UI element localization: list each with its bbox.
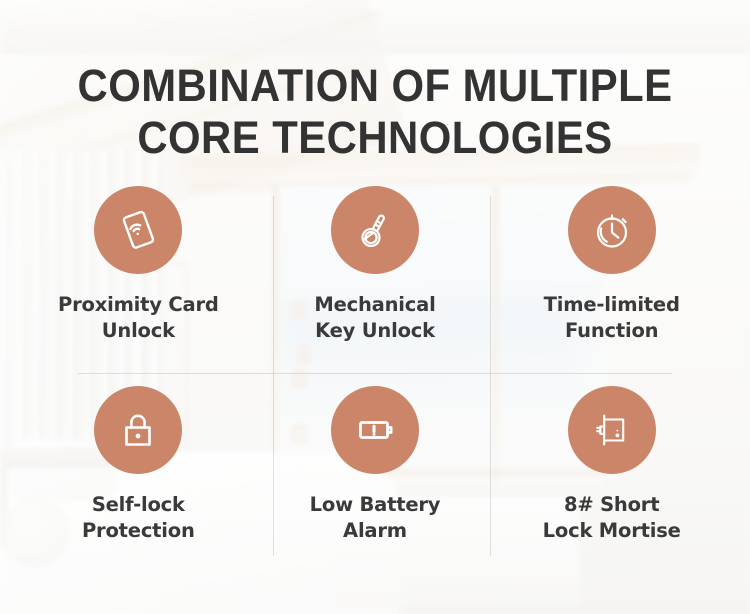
feature-grid: Proximity Card Unlock [20,186,730,586]
feature-label: Low Battery Alarm [310,492,441,543]
feature-icon-badge [94,186,182,274]
feature-label: Time-limited Function [544,292,680,343]
rfid-card-icon [114,206,162,254]
feature-icon-badge [331,386,419,474]
feature-icon-badge [331,186,419,274]
key-icon [351,206,399,254]
stopwatch-icon [588,206,636,254]
page-title: COMBINATION OF MULTIPLE CORE TECHNOLOGIE… [26,60,724,164]
feature-icon-badge [568,186,656,274]
feature-label: Mechanical Key Unlock [314,292,435,343]
feature-icon-badge [568,386,656,474]
feature-label: Proximity Card Unlock [58,292,219,343]
feature-label: Self-lock Protection [82,492,195,543]
low-battery-icon [351,406,399,454]
feature-item-low-battery-alarm[interactable]: Low Battery Alarm [257,386,494,586]
feature-item-proximity-card-unlock[interactable]: Proximity Card Unlock [20,186,257,386]
lock-mortise-icon [588,406,636,454]
feature-item-mechanical-key-unlock[interactable]: Mechanical Key Unlock [257,186,494,386]
feature-item-self-lock-protection[interactable]: Self-lock Protection [20,386,257,586]
feature-label: 8# Short Lock Mortise [543,492,681,543]
padlock-icon [114,406,162,454]
feature-poster: COMBINATION OF MULTIPLE CORE TECHNOLOGIE… [0,0,750,614]
feature-item-short-lock-mortise[interactable]: 8# Short Lock Mortise [493,386,730,586]
feature-icon-badge [94,386,182,474]
feature-item-time-limited-function[interactable]: Time-limited Function [493,186,730,386]
